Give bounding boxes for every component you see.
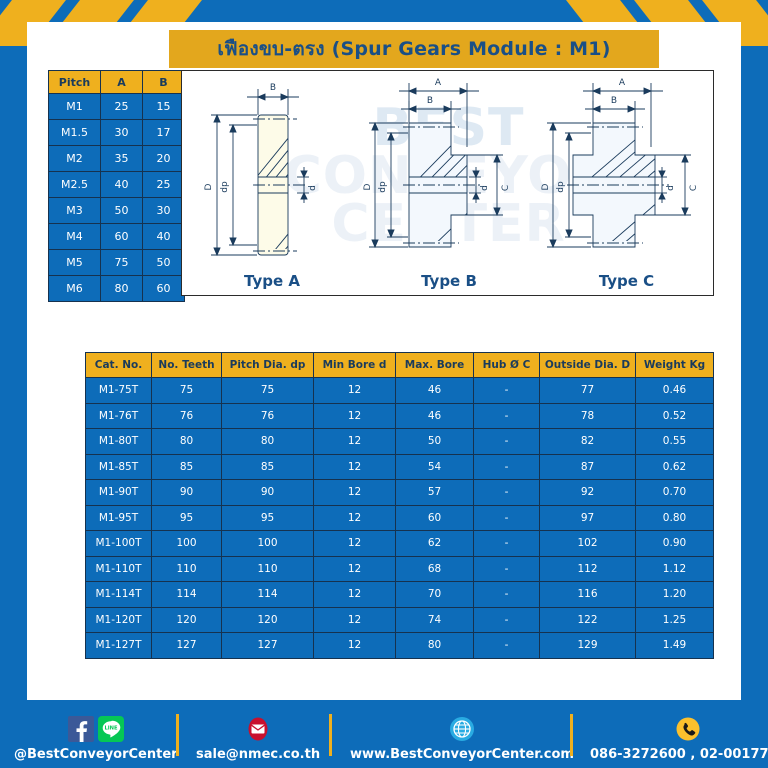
pitch-cell-7-0: M6 [49,276,101,302]
pitch-cell-5-1: 60 [101,224,143,250]
spec-cell-2-2: 80 [222,429,314,455]
spec-cell-0-0: M1-75T [86,378,152,404]
pitch-cell-6-1: 75 [101,250,143,276]
pitch-table-container: Pitch A B M12515M1.53017M23520M2.54025M3… [48,70,185,302]
pitch-cell-6-2: 50 [143,250,185,276]
spec-cell-3-3: 12 [314,454,396,480]
spec-cell-1-4: 46 [396,403,474,429]
spec-cell-3-0: M1-85T [86,454,152,480]
spec-header-1: No. Teeth [152,353,222,378]
pitch-cell-3-2: 25 [143,172,185,198]
spec-table-header-row: Cat. No.No. TeethPitch Dia. dpMin Bore d… [86,353,714,378]
table-row: M1-76T76761246-780.52 [86,403,714,429]
spec-cell-3-4: 54 [396,454,474,480]
spec-header-4: Max. Bore [396,353,474,378]
svg-text:C: C [501,185,511,191]
spec-cell-9-1: 120 [152,607,222,633]
pitch-table-row: M1.53017 [49,120,185,146]
phone-icon[interactable] [675,716,701,742]
pitch-table-row: M57550 [49,250,185,276]
spec-header-3: Min Bore d [314,353,396,378]
spec-cell-3-5: - [474,454,540,480]
spec-header-2: Pitch Dia. dp [222,353,314,378]
spec-cell-8-7: 1.20 [636,582,714,608]
type-c-label: Type C [599,272,654,290]
content-panel: เฟืองขบ-ตรง (Spur Gears Module : M1) Pit… [27,22,741,700]
svg-text:dp: dp [220,181,230,193]
spec-cell-9-7: 1.25 [636,607,714,633]
svg-text:dp: dp [556,181,566,193]
spec-cell-4-0: M1-90T [86,480,152,506]
spec-cell-8-1: 114 [152,582,222,608]
table-row: M1-127T1271271280-1291.49 [86,633,714,659]
spec-cell-4-7: 0.70 [636,480,714,506]
spec-cell-1-1: 76 [152,403,222,429]
diagram-type-b: A B [360,71,538,296]
table-row: M1-75T75751246-770.46 [86,378,714,404]
pitch-cell-6-0: M5 [49,250,101,276]
pitch-cell-2-0: M2 [49,146,101,172]
line-icon[interactable]: LINE [98,716,124,742]
spec-cell-10-4: 80 [396,633,474,659]
spec-cell-5-1: 95 [152,505,222,531]
pitch-cell-0-0: M1 [49,94,101,120]
page-title-banner: เฟืองขบ-ตรง (Spur Gears Module : M1) [169,30,659,68]
spec-cell-2-7: 0.55 [636,429,714,455]
spec-cell-6-0: M1-100T [86,531,152,557]
spec-cell-1-7: 0.52 [636,403,714,429]
pitch-table: Pitch A B M12515M1.53017M23520M2.54025M3… [48,70,185,302]
table-row: M1-120T1201201274-1221.25 [86,607,714,633]
spec-cell-6-6: 102 [540,531,636,557]
footer-social-icons: LINE [68,714,124,744]
spec-header-0: Cat. No. [86,353,152,378]
spec-cell-2-0: M1-80T [86,429,152,455]
spec-cell-6-5: - [474,531,540,557]
type-b-label: Type B [421,272,477,290]
spec-cell-5-6: 97 [540,505,636,531]
pitch-cell-4-2: 30 [143,198,185,224]
spec-cell-4-4: 57 [396,480,474,506]
footer-website-text[interactable]: www.BestConveyorCenter.com [350,747,574,762]
footer-email: sale@nmec.co.th [196,714,320,762]
spec-cell-10-1: 127 [152,633,222,659]
spec-cell-9-3: 12 [314,607,396,633]
spec-cell-6-1: 100 [152,531,222,557]
spec-cell-6-4: 62 [396,531,474,557]
footer-website: www.BestConveyorCenter.com [350,714,574,762]
spec-cell-7-0: M1-110T [86,556,152,582]
footer-social: LINE @BestConveyorCenter [14,714,178,762]
spec-cell-8-6: 116 [540,582,636,608]
spec-cell-10-5: - [474,633,540,659]
table-row: M1-80T80801250-820.55 [86,429,714,455]
spec-cell-0-5: - [474,378,540,404]
footer-phone: 086-3272600 , 02-0017766 [590,714,768,762]
spec-header-7: Weight Kg [636,353,714,378]
page-title: เฟืองขบ-ตรง (Spur Gears Module : M1) [217,34,610,64]
pitch-header-b: B [143,71,185,94]
svg-text:B: B [427,96,433,106]
spec-cell-6-3: 12 [314,531,396,557]
svg-text:dp: dp [378,181,388,193]
spec-cell-0-4: 46 [396,378,474,404]
spec-cell-9-6: 122 [540,607,636,633]
footer-phone-icons [675,714,701,744]
pitch-cell-3-0: M2.5 [49,172,101,198]
table-row: M1-85T85851254-870.62 [86,454,714,480]
pitch-header-pitch: Pitch [49,71,101,94]
spec-cell-3-6: 87 [540,454,636,480]
svg-text:D: D [541,183,551,190]
footer-separator-2 [329,714,332,756]
pitch-table-row: M68060 [49,276,185,302]
spec-cell-2-1: 80 [152,429,222,455]
table-row: M1-90T90901257-920.70 [86,480,714,506]
spec-cell-8-4: 70 [396,582,474,608]
spec-cell-0-6: 77 [540,378,636,404]
pitch-cell-1-0: M1.5 [49,120,101,146]
pitch-cell-7-2: 60 [143,276,185,302]
spec-cell-7-4: 68 [396,556,474,582]
spec-cell-1-0: M1-76T [86,403,152,429]
pitch-cell-5-0: M4 [49,224,101,250]
spec-cell-7-1: 110 [152,556,222,582]
spec-cell-1-2: 76 [222,403,314,429]
footer-email-text[interactable]: sale@nmec.co.th [196,747,320,762]
spec-cell-1-3: 12 [314,403,396,429]
svg-text:B: B [270,83,276,93]
pitch-table-row: M23520 [49,146,185,172]
spec-cell-1-5: - [474,403,540,429]
spec-cell-8-3: 12 [314,582,396,608]
pitch-cell-0-1: 25 [101,94,143,120]
spec-cell-5-7: 0.80 [636,505,714,531]
spec-cell-9-4: 74 [396,607,474,633]
pitch-cell-4-0: M3 [49,198,101,224]
diagram-type-a: B [184,71,360,296]
table-row: M1-100T1001001262-1020.90 [86,531,714,557]
spec-cell-10-2: 127 [222,633,314,659]
spec-cell-5-2: 95 [222,505,314,531]
svg-text:A: A [618,78,625,88]
pitch-cell-5-2: 40 [143,224,185,250]
spec-cell-0-1: 75 [152,378,222,404]
spec-cell-4-5: - [474,480,540,506]
spec-cell-4-2: 90 [222,480,314,506]
footer-contact-bar: LINE @BestConveyorCenter sale@nmec.co.th [0,700,768,768]
email-icon[interactable] [245,716,271,742]
spec-cell-3-2: 85 [222,454,314,480]
type-a-label: Type A [244,272,300,290]
type-c-drawing: A B [541,75,713,271]
spec-cell-4-1: 90 [152,480,222,506]
pitch-table-row: M35030 [49,198,185,224]
spec-cell-8-2: 114 [222,582,314,608]
globe-icon[interactable] [449,716,475,742]
spec-cell-7-3: 12 [314,556,396,582]
spec-cell-2-5: - [474,429,540,455]
spec-cell-5-5: - [474,505,540,531]
svg-text:D: D [363,183,373,190]
pitch-table-row: M2.54025 [49,172,185,198]
svg-text:B: B [610,96,616,106]
svg-text:d: d [666,185,676,191]
spec-cell-6-2: 100 [222,531,314,557]
table-row: M1-110T1101101268-1121.12 [86,556,714,582]
type-a-drawing: B [187,75,357,271]
svg-text:D: D [204,183,214,190]
spec-cell-7-7: 1.12 [636,556,714,582]
spec-cell-3-7: 0.62 [636,454,714,480]
pitch-table-row: M12515 [49,94,185,120]
table-row: M1-114T1141141270-1161.20 [86,582,714,608]
svg-text:d: d [480,185,490,191]
spec-cell-7-6: 112 [540,556,636,582]
type-b-drawing: A B [363,75,535,271]
spec-cell-2-6: 82 [540,429,636,455]
spec-cell-0-3: 12 [314,378,396,404]
spec-cell-2-3: 12 [314,429,396,455]
table-row: M1-95T95951260-970.80 [86,505,714,531]
pitch-table-header-row: Pitch A B [49,71,185,94]
spec-cell-2-4: 50 [396,429,474,455]
pitch-cell-0-2: 15 [143,94,185,120]
spec-cell-7-2: 110 [222,556,314,582]
footer-phone-text[interactable]: 086-3272600 , 02-0017766 [590,747,768,762]
pitch-table-row: M46040 [49,224,185,250]
gear-diagram-panel: BEST CONVEYOR CENTER B [181,70,714,296]
pitch-cell-3-1: 40 [101,172,143,198]
spec-cell-10-7: 1.49 [636,633,714,659]
spec-cell-9-2: 120 [222,607,314,633]
svg-text:C: C [689,185,699,191]
footer-website-icons [449,714,475,744]
spec-cell-3-1: 85 [152,454,222,480]
spec-cell-5-3: 12 [314,505,396,531]
spec-cell-4-6: 92 [540,480,636,506]
svg-text:A: A [435,78,442,88]
pitch-cell-2-2: 20 [143,146,185,172]
spec-cell-7-5: - [474,556,540,582]
diagram-type-c: A B [538,71,714,296]
spec-cell-6-7: 0.90 [636,531,714,557]
svg-text:LINE: LINE [104,726,118,732]
pitch-header-a: A [101,71,143,94]
pitch-cell-1-1: 30 [101,120,143,146]
spec-cell-9-0: M1-120T [86,607,152,633]
spec-cell-5-0: M1-95T [86,505,152,531]
spec-cell-8-0: M1-114T [86,582,152,608]
spec-cell-4-3: 12 [314,480,396,506]
spec-cell-1-6: 78 [540,403,636,429]
svg-text:d: d [308,185,318,191]
spec-cell-10-0: M1-127T [86,633,152,659]
spec-cell-8-5: - [474,582,540,608]
spec-cell-5-4: 60 [396,505,474,531]
pitch-cell-4-1: 50 [101,198,143,224]
spec-header-6: Outside Dia. D [540,353,636,378]
spec-cell-10-6: 129 [540,633,636,659]
spec-cell-10-3: 12 [314,633,396,659]
spec-cell-0-7: 0.46 [636,378,714,404]
footer-separator-1 [176,714,179,756]
pitch-cell-7-1: 80 [101,276,143,302]
spec-table: Cat. No.No. TeethPitch Dia. dpMin Bore d… [85,352,714,659]
facebook-icon[interactable] [68,716,94,742]
spec-cell-9-5: - [474,607,540,633]
footer-email-icons [245,714,271,744]
footer-social-text[interactable]: @BestConveyorCenter [14,747,178,762]
spec-table-container: Cat. No.No. TeethPitch Dia. dpMin Bore d… [85,352,714,659]
pitch-cell-2-1: 35 [101,146,143,172]
footer-separator-3 [570,714,573,756]
spec-cell-0-2: 75 [222,378,314,404]
spec-header-5: Hub Ø C [474,353,540,378]
pitch-cell-1-2: 17 [143,120,185,146]
